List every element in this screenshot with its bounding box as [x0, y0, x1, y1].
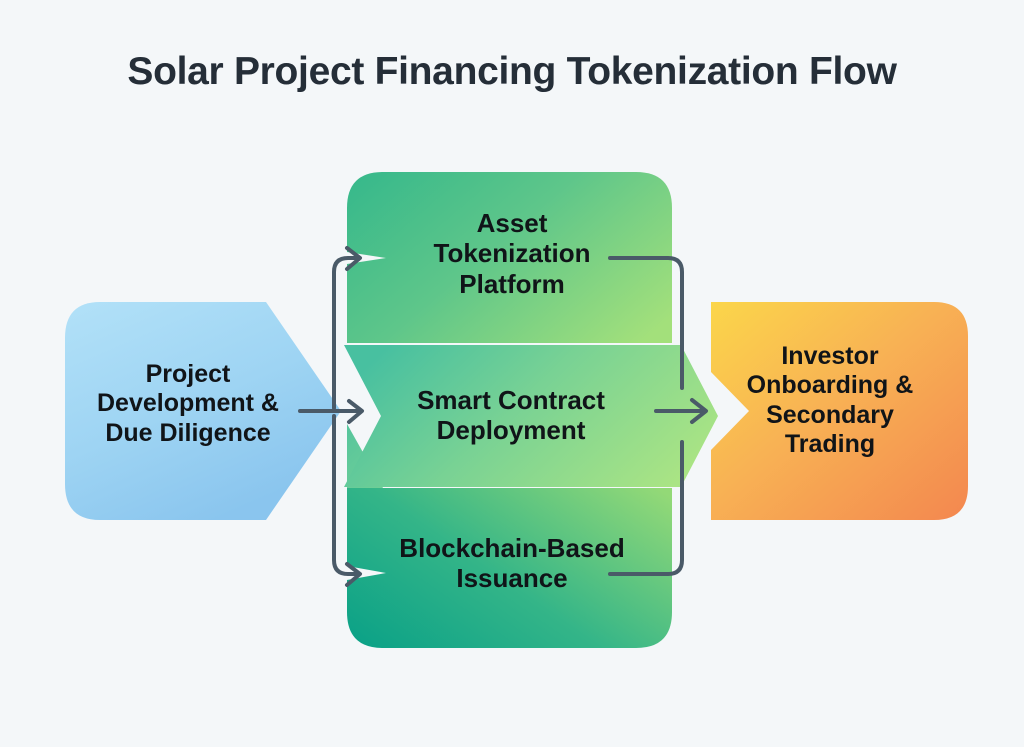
page-title: Solar Project Financing Tokenization Flo… [0, 48, 1024, 96]
band-smart-contract-deployment[interactable] [344, 345, 718, 487]
node-investor-onboarding[interactable] [711, 302, 968, 520]
diagram-canvas [0, 0, 1024, 747]
band-asset-tokenization-platform[interactable] [330, 165, 682, 345]
